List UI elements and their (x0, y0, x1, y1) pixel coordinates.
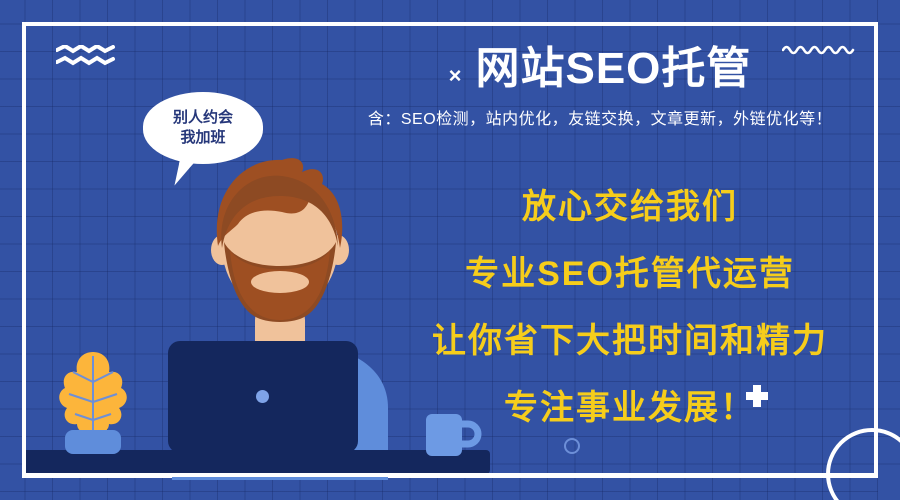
title-row: × 网站SEO托管 (300, 44, 900, 95)
speech-bubble-text: 别人约会 我加班 (173, 108, 233, 149)
title-prefix-mark: × (449, 51, 462, 87)
wave-lines-icon (56, 45, 116, 69)
small-circle-outline-icon (564, 438, 580, 454)
page-title: 网站SEO托管 (475, 44, 751, 95)
speech-bubble: 别人约会 我加班 (143, 92, 263, 164)
seo-hosting-banner: × 网站SEO托管 含：SEO检测，站内优化，友链交换，文章更新，外链优化等！ … (0, 0, 900, 500)
selling-point-3: 让你省下大把时间和精力 (395, 324, 865, 358)
laptop-logo-dot (256, 390, 269, 403)
potted-plant-illustration (55, 348, 131, 454)
laptop-icon (168, 341, 358, 453)
circle-corner-mask (878, 478, 900, 500)
selling-point-4: 专注事业发展！ (395, 391, 865, 425)
selling-points-list: 放心交给我们 专业SEO托管代运营 让你省下大把时间和精力 专注事业发展！ (395, 190, 865, 425)
desk-edge-line (26, 473, 874, 477)
headline-block: × 网站SEO托管 含：SEO检测，站内优化，友链交换，文章更新，外链优化等！ (300, 44, 900, 129)
page-subtitle: 含：SEO检测，站内优化，友链交换，文章更新，外链优化等！ (300, 105, 900, 129)
selling-point-2: 专业SEO托管代运营 (395, 257, 865, 291)
selling-point-1: 放心交给我们 (395, 190, 865, 224)
